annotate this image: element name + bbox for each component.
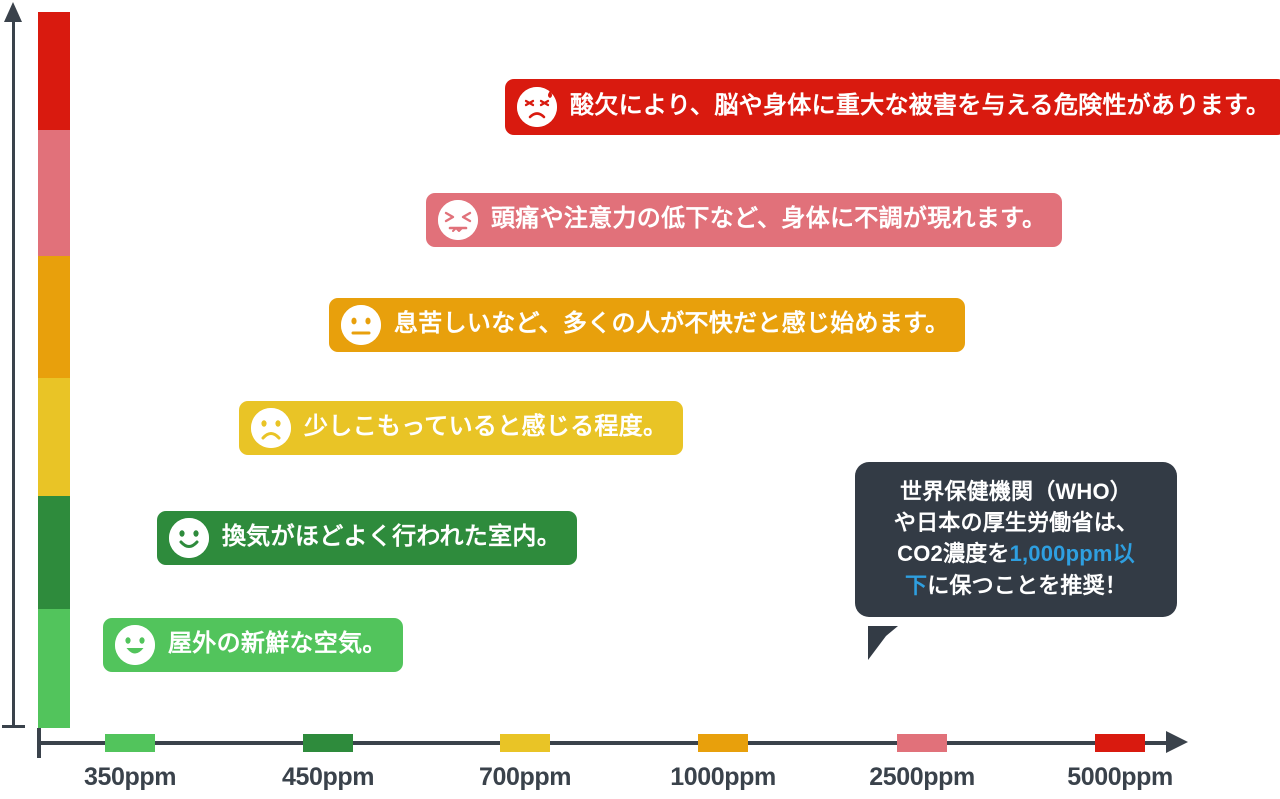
- pill-450ppm-label: 換気がほどよく行われた室内。: [222, 525, 561, 551]
- tick-swatch-350ppm: [105, 734, 155, 752]
- band-light-green: [38, 609, 70, 728]
- pill-2500ppm-label: 頭痛や注意力の低下など、身体に不調が現れます。: [491, 207, 1046, 233]
- pill-350ppm: 屋外の新鮮な空気。: [103, 618, 403, 672]
- tick-label-700ppm: 700ppm: [435, 763, 615, 792]
- band-red: [38, 12, 70, 130]
- smile-icon: [169, 518, 209, 558]
- dizzy-icon: [517, 87, 557, 127]
- pill-700ppm-label: 少しこもっていると感じる程度。: [304, 415, 667, 441]
- tick-swatch-1000ppm: [698, 734, 748, 752]
- tick-swatch-700ppm: [500, 734, 550, 752]
- band-salmon: [38, 130, 70, 256]
- pill-350ppm-label: 屋外の新鮮な空気。: [168, 632, 387, 658]
- callout-line-2: や日本の厚生労働省は、: [873, 507, 1159, 538]
- callout-tail: [868, 626, 898, 660]
- pill-700ppm: 少しこもっていると感じる程度。: [239, 401, 683, 455]
- pill-5000ppm-label: 酸欠により、脳や身体に重大な被害を与える危険性があります。: [570, 94, 1270, 120]
- pill-1000ppm-label: 息苦しいなど、多くの人が不快だと感じ始めます。: [394, 312, 949, 338]
- neutral-icon: [341, 305, 381, 345]
- tick-swatch-5000ppm: [1095, 734, 1145, 752]
- tick-label-350ppm: 350ppm: [40, 763, 220, 792]
- tick-label-1000ppm: 1000ppm: [633, 763, 813, 792]
- callout-line-4-suffix: に保つことを推奨！: [927, 573, 1127, 598]
- squint-icon: [438, 200, 478, 240]
- pill-450ppm: 換気がほどよく行われた室内。: [157, 511, 577, 565]
- callout-line-1: 世界保健機関（WHO）: [873, 476, 1159, 507]
- who-recommendation-callout: 世界保健機関（WHO） や日本の厚生労働省は、 CO2濃度を1,000ppm以 …: [855, 462, 1177, 617]
- frown-icon: [251, 408, 291, 448]
- x-axis-line: [37, 741, 1170, 745]
- smile-open-icon: [115, 625, 155, 665]
- x-axis-arrowhead: [1166, 731, 1188, 753]
- tick-swatch-2500ppm: [897, 734, 947, 752]
- infographic-canvas: 酸欠により、脳や身体に重大な被害を与える危険性があります。 頭痛や注意力の低下な…: [0, 0, 1280, 799]
- y-axis-base-cap: [2, 725, 25, 728]
- band-yellow: [38, 378, 70, 496]
- band-orange: [38, 256, 70, 378]
- callout-line-3: CO2濃度を1,000ppm以: [873, 538, 1159, 569]
- y-axis-line: [12, 18, 15, 728]
- callout-line-3-prefix: CO2濃度を: [897, 541, 1009, 566]
- co2-level-colorbar: [38, 12, 70, 728]
- tick-label-2500ppm: 2500ppm: [832, 763, 1012, 792]
- callout-highlight-tail: 下: [905, 573, 927, 598]
- pill-5000ppm: 酸欠により、脳や身体に重大な被害を与える危険性があります。: [505, 79, 1280, 135]
- band-dark-green: [38, 496, 70, 609]
- tick-label-450ppm: 450ppm: [238, 763, 418, 792]
- callout-line-4: 下に保つことを推奨！: [873, 570, 1159, 601]
- pill-2500ppm: 頭痛や注意力の低下など、身体に不調が現れます。: [426, 193, 1062, 247]
- callout-highlight-ppm: 1,000ppm以: [1010, 541, 1135, 566]
- tick-swatch-450ppm: [303, 734, 353, 752]
- tick-label-5000ppm: 5000ppm: [1030, 763, 1210, 792]
- pill-1000ppm: 息苦しいなど、多くの人が不快だと感じ始めます。: [329, 298, 965, 352]
